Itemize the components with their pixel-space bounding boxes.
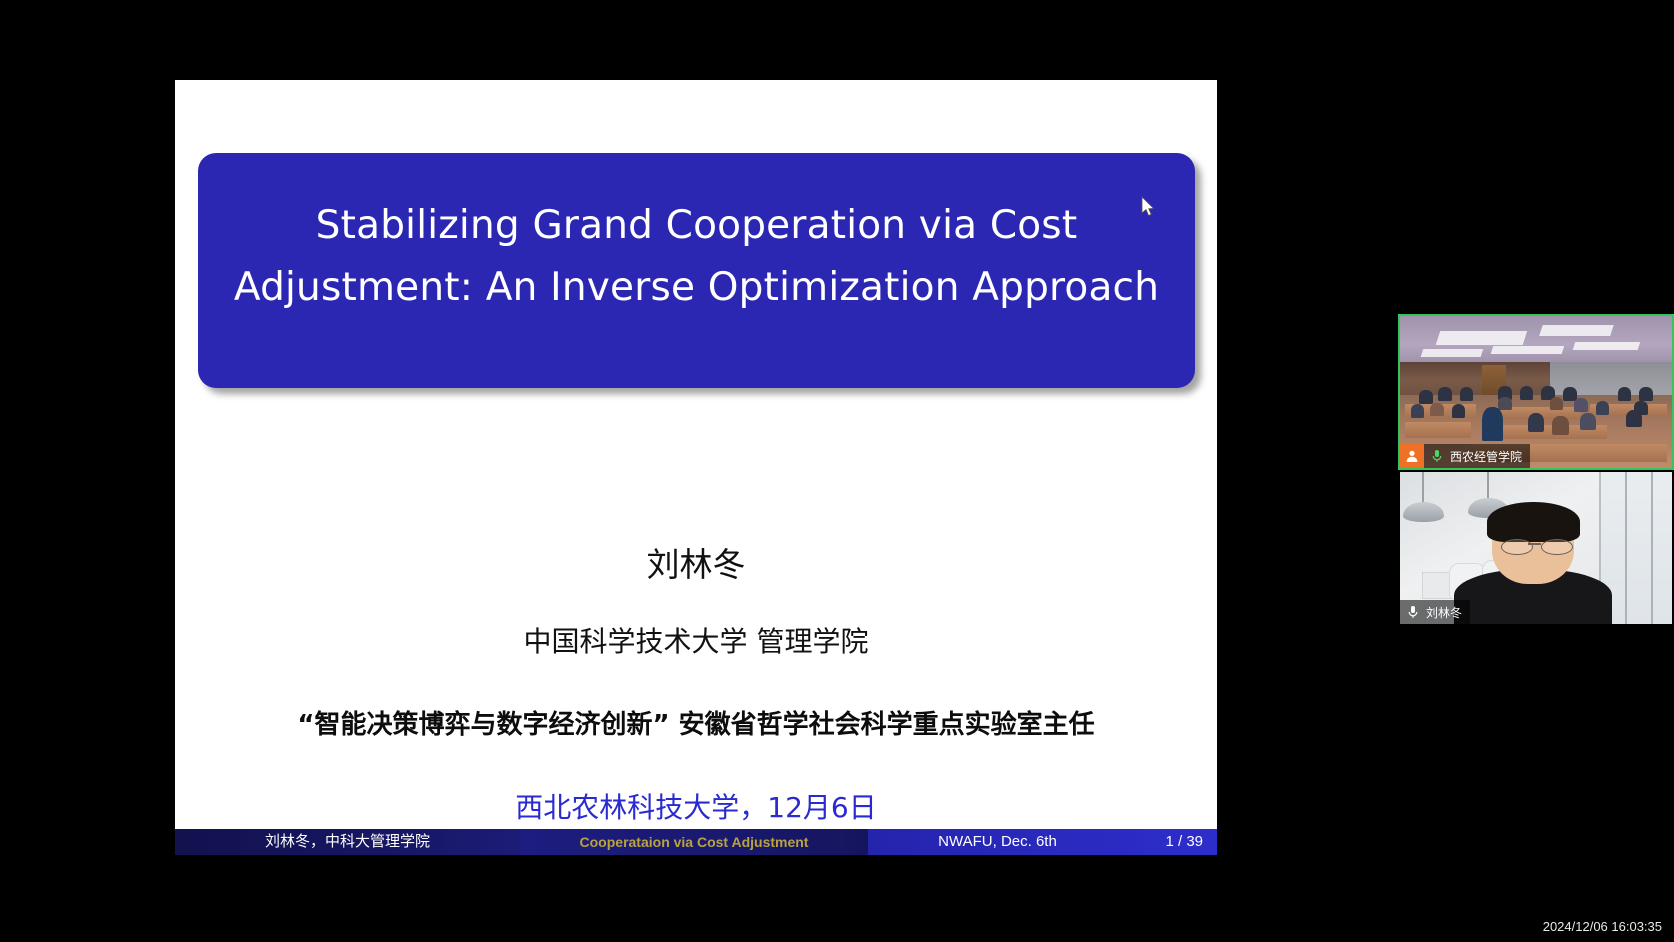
microphone-icon: [1403, 605, 1423, 619]
video-tile-room[interactable]: 西农经管学院: [1398, 314, 1674, 470]
slide-title: Stabilizing Grand Cooperation via Cost A…: [227, 153, 1167, 319]
slide-venue-date: 西北农林科技大学，12月6日: [175, 786, 1217, 826]
slide-title-box: Stabilizing Grand Cooperation via Cost A…: [198, 153, 1195, 388]
footer-subject: Cooperataion via Cost Adjustment: [520, 829, 868, 855]
slide-affiliation: 中国科学技术大学 管理学院: [175, 620, 1217, 660]
slide-title-line-2: Adjustment: An Inverse Optimization Appr…: [227, 257, 1167, 319]
video-tile-room-name-badge: 西农经管学院: [1400, 444, 1530, 468]
slide-lab-role: “智能决策博弈与数字经济创新” 安徽省哲学社会科学重点实验室主任: [175, 704, 1217, 741]
slide-footer-bar: 刘林冬，中科大管理学院 Cooperataion via Cost Adjust…: [175, 829, 1217, 855]
video-tile-speaker-name: 刘林冬: [1426, 604, 1462, 621]
microphone-icon: [1427, 449, 1447, 463]
slide-title-line-1: Stabilizing Grand Cooperation via Cost: [227, 195, 1167, 257]
footer-venue-section: NWAFU, Dec. 6th 1 / 39: [868, 829, 1217, 855]
presentation-slide[interactable]: Stabilizing Grand Cooperation via Cost A…: [175, 80, 1217, 855]
screen-share-view: Stabilizing Grand Cooperation via Cost A…: [0, 0, 1674, 942]
recording-timestamp: 2024/12/06 16:03:35: [1543, 919, 1662, 934]
person-icon: [1400, 444, 1424, 468]
video-tile-speaker-name-badge: 刘林冬: [1400, 600, 1470, 624]
footer-venue: NWAFU, Dec. 6th: [868, 829, 1127, 855]
slide-content-area: Stabilizing Grand Cooperation via Cost A…: [175, 80, 1217, 829]
video-tile-room-name: 西农经管学院: [1450, 448, 1522, 465]
slide-author: 刘林冬: [175, 538, 1217, 586]
video-tile-speaker[interactable]: 刘林冬: [1398, 470, 1674, 626]
footer-author: 刘林冬，中科大管理学院: [175, 829, 520, 855]
footer-page-number: 1 / 39: [1165, 829, 1203, 855]
